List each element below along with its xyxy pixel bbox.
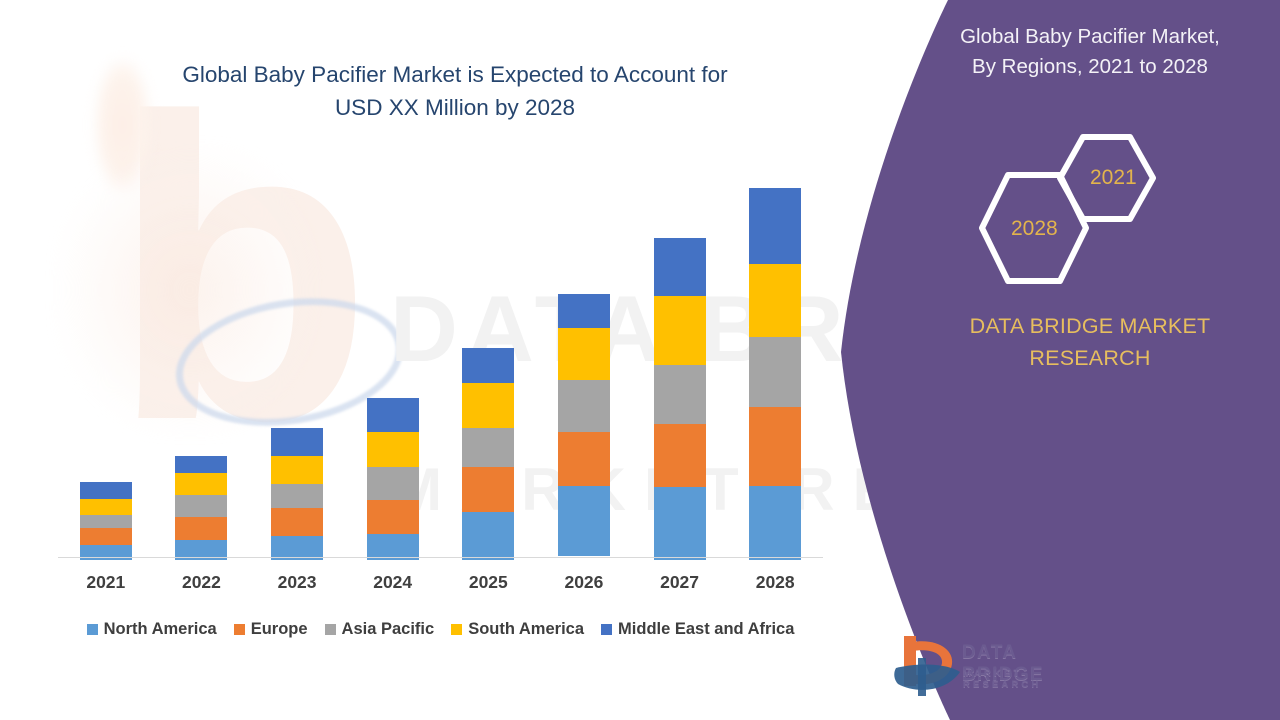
- legend-item-asia-pacific[interactable]: Asia Pacific: [325, 620, 435, 639]
- page-title-line-1: Global Baby Pacifier Market is Expected …: [60, 58, 850, 91]
- legend-label: South America: [468, 620, 584, 639]
- hexagon-label-2028: 2028: [1011, 217, 1058, 241]
- chart-axis-line: [58, 557, 823, 558]
- bar-segment[interactable]: [654, 365, 706, 425]
- hexagon-outlines-icon: [975, 125, 1205, 290]
- bar-segment[interactable]: [749, 486, 801, 560]
- bar-segment[interactable]: [558, 328, 610, 380]
- bar-segment[interactable]: [271, 428, 323, 456]
- legend-swatch-icon: [451, 624, 462, 635]
- hexagon-badges: 2021 2028: [975, 125, 1205, 290]
- bar-segment[interactable]: [654, 424, 706, 487]
- legend-label: Middle East and Africa: [618, 620, 794, 639]
- bar-segment[interactable]: [462, 467, 514, 512]
- bar-stack-2027[interactable]: [654, 238, 706, 560]
- x-axis-label-2028: 2028: [727, 572, 823, 593]
- bar-stack-2028[interactable]: [749, 188, 801, 560]
- brand-name: DATA BRIDGE MARKET RESEARCH: [900, 310, 1280, 374]
- bar-segment[interactable]: [80, 499, 132, 516]
- bar-segment[interactable]: [462, 348, 514, 383]
- bar-segment[interactable]: [175, 456, 227, 473]
- panel-content: Global Baby Pacifier Market, By Regions,…: [900, 0, 1280, 720]
- bar-segment[interactable]: [271, 508, 323, 536]
- legend-item-south-america[interactable]: South America: [451, 620, 584, 639]
- bar-segment[interactable]: [749, 264, 801, 337]
- legend-swatch-icon: [87, 624, 98, 635]
- bar-stack-2026[interactable]: [558, 294, 610, 560]
- legend-swatch-icon: [325, 624, 336, 635]
- legend-item-europe[interactable]: Europe: [234, 620, 308, 639]
- bar-segment[interactable]: [175, 517, 227, 539]
- bar-segment[interactable]: [271, 456, 323, 484]
- x-axis-label-2021: 2021: [58, 572, 154, 593]
- legend-item-middle-east-and-africa[interactable]: Middle East and Africa: [601, 620, 794, 639]
- bar-segment[interactable]: [367, 398, 419, 431]
- bar-segment[interactable]: [749, 407, 801, 485]
- bar-segment[interactable]: [558, 486, 610, 557]
- company-logo: DATA BRIDGE MARKET RESEARCH: [890, 628, 1105, 708]
- chart-x-axis-labels: 20212022202320242025202620272028: [58, 572, 823, 602]
- bar-segment[interactable]: [80, 528, 132, 545]
- bar-segment[interactable]: [558, 294, 610, 327]
- bar-stack-2022[interactable]: [175, 456, 227, 560]
- bar-segment[interactable]: [80, 482, 132, 499]
- x-axis-label-2022: 2022: [153, 572, 249, 593]
- bar-segment[interactable]: [462, 383, 514, 428]
- panel-title: Global Baby Pacifier Market, By Regions,…: [900, 22, 1280, 82]
- bar-segment[interactable]: [367, 432, 419, 467]
- bar-segment[interactable]: [558, 432, 610, 486]
- bar-segment[interactable]: [654, 296, 706, 365]
- bar-stack-2025[interactable]: [462, 348, 514, 560]
- bar-segment[interactable]: [271, 484, 323, 508]
- panel-title-line-1: Global Baby Pacifier Market,: [900, 22, 1280, 52]
- bar-segment[interactable]: [462, 512, 514, 560]
- x-axis-label-2026: 2026: [536, 572, 632, 593]
- bar-chart-plot-area: [58, 160, 823, 560]
- legend-label: Europe: [251, 620, 308, 639]
- page-title-line-2: USD XX Million by 2028: [60, 91, 850, 124]
- brand-name-line-1: DATA BRIDGE MARKET: [900, 310, 1280, 342]
- chart-legend: North AmericaEuropeAsia PacificSouth Ame…: [58, 616, 823, 642]
- x-axis-label-2023: 2023: [249, 572, 345, 593]
- legend-swatch-icon: [234, 624, 245, 635]
- bar-stack-2024[interactable]: [367, 398, 419, 560]
- legend-swatch-icon: [601, 624, 612, 635]
- bar-segment[interactable]: [654, 238, 706, 296]
- x-axis-label-2025: 2025: [440, 572, 536, 593]
- panel-title-line-2: By Regions, 2021 to 2028: [900, 52, 1280, 82]
- bar-segment[interactable]: [462, 428, 514, 467]
- bar-segment[interactable]: [749, 188, 801, 264]
- bar-segment[interactable]: [749, 337, 801, 408]
- bar-segment[interactable]: [367, 467, 419, 500]
- bar-segment[interactable]: [558, 380, 610, 432]
- bar-segment[interactable]: [80, 515, 132, 528]
- bar-segment[interactable]: [175, 495, 227, 517]
- bar-segment[interactable]: [367, 500, 419, 533]
- bar-segment[interactable]: [175, 473, 227, 495]
- bar-stack-2021[interactable]: [80, 482, 132, 560]
- bar-segment[interactable]: [654, 487, 706, 560]
- bar-stack-2023[interactable]: [271, 428, 323, 560]
- page-title: Global Baby Pacifier Market is Expected …: [60, 58, 850, 124]
- x-axis-label-2027: 2027: [632, 572, 728, 593]
- hexagon-label-2021: 2021: [1090, 166, 1137, 190]
- logo-tagline: MARKET RESEARCH: [963, 668, 1105, 690]
- brand-name-line-2: RESEARCH: [900, 342, 1280, 374]
- x-axis-label-2024: 2024: [345, 572, 441, 593]
- legend-label: North America: [104, 620, 217, 639]
- legend-label: Asia Pacific: [342, 620, 435, 639]
- legend-item-north-america[interactable]: North America: [87, 620, 217, 639]
